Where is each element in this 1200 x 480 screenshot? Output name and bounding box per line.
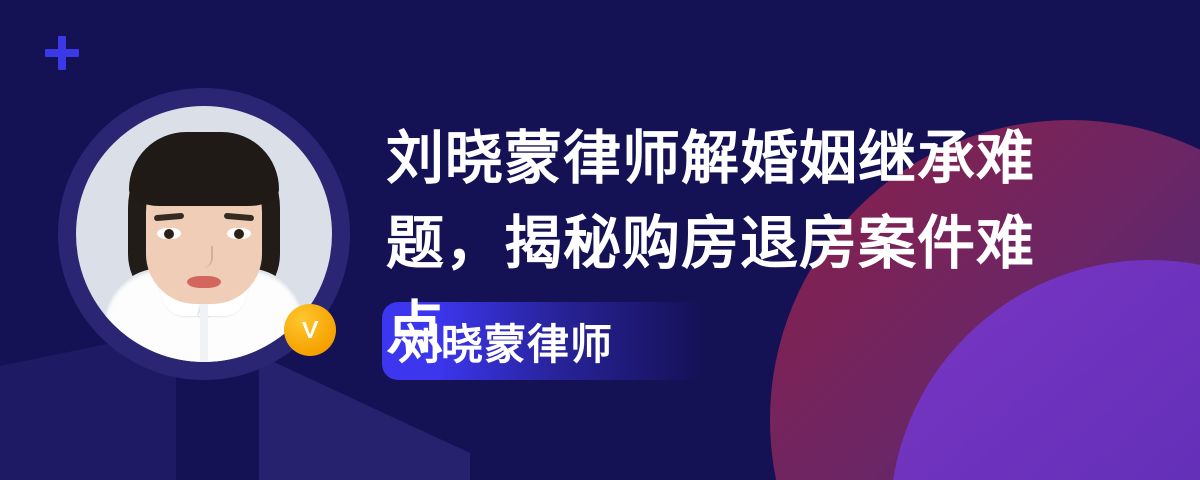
portrait-placket (200, 296, 208, 362)
speaker-name-label: 刘晓蒙律师 (398, 302, 613, 380)
verified-badge (284, 304, 336, 356)
verified-check-icon (295, 315, 325, 345)
portrait-lips (187, 276, 221, 288)
portrait-nose (195, 246, 213, 268)
portrait-eye-right (227, 228, 251, 239)
portrait-eye-left (157, 228, 181, 239)
plus-icon (45, 36, 79, 70)
avatar (58, 88, 350, 380)
promo-banner: 刘晓蒙律师解婚姻继承难题，揭秘购房退房案件难点 刘晓蒙律师 (0, 0, 1200, 480)
